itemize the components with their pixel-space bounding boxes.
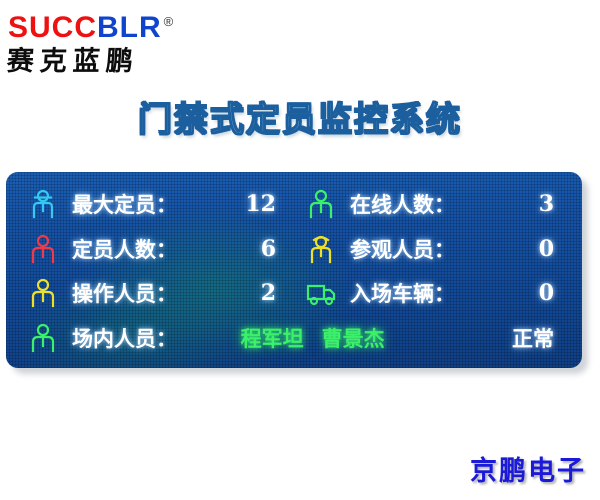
occupant-name-list: 程军坦 曹景杰 (241, 323, 385, 353)
led-cell-max-capacity: 最大定员： 12 (28, 188, 290, 220)
person-visitor-icon (306, 233, 336, 265)
person-online-icon (306, 188, 336, 220)
brand-wordmark: SUCCBLR® (8, 6, 238, 44)
led-label: 场内人员： (72, 323, 177, 353)
led-row: 定员人数： 6 参观人员： 0 (28, 229, 568, 269)
led-cell-occupants-label: 场内人员： (28, 322, 177, 354)
led-cell-online-count: 在线人数： 3 (290, 188, 568, 220)
led-cell-visitor-count: 参观人员： 0 (290, 233, 568, 265)
led-cell-operator-count: 操作人员： 2 (28, 277, 290, 309)
led-label: 操作人员： (72, 278, 177, 308)
led-label: 最大定员： (72, 189, 177, 219)
brand-logo: SUCCBLR® 赛克蓝鹏 (8, 6, 238, 78)
led-cell-vehicle-count: 入场车辆： 0 (290, 277, 568, 309)
led-value: 6 (261, 236, 290, 262)
footer-brand: 京鹏电子 (470, 449, 586, 488)
led-value: 12 (245, 191, 290, 217)
registered-trademark-icon: ® (164, 14, 175, 29)
led-cell-occupant-names: 程军坦 曹景杰 正常 (177, 323, 568, 353)
person-green-icon (28, 322, 58, 354)
wordmark-blr: BLR (97, 11, 162, 44)
led-row: 操作人员： 2 入场车辆： 0 (28, 273, 568, 313)
led-label: 参观人员： (350, 234, 455, 264)
led-value: 0 (539, 280, 568, 306)
led-cell-rated-headcount: 定员人数： 6 (28, 233, 290, 265)
led-value: 2 (261, 280, 290, 306)
led-row-occupants: 场内人员： 程军坦 曹景杰 正常 (28, 318, 568, 358)
led-label: 入场车辆： (350, 278, 455, 308)
led-row: 最大定员： 12 在线人数： 3 (28, 184, 568, 224)
truck-icon (306, 277, 336, 309)
page-title: 门禁式定员监控系统 (0, 92, 600, 141)
wordmark-succ: SUCC (8, 11, 97, 44)
led-rows-container: 最大定员： 12 在线人数： 3 (6, 172, 582, 368)
led-value: 3 (539, 191, 568, 217)
person-yellow-icon (28, 277, 58, 309)
occupant-name: 程军坦 (241, 323, 304, 353)
led-display-panel: 最大定员： 12 在线人数： 3 (6, 172, 582, 368)
brand-chinese-name: 赛克蓝鹏 (6, 45, 238, 79)
led-value: 0 (539, 236, 568, 262)
led-label: 在线人数： (350, 189, 455, 219)
occupant-name: 曹景杰 (322, 323, 385, 353)
person-with-cap-icon (28, 188, 58, 220)
person-red-icon (28, 233, 58, 265)
status-badge: 正常 (512, 323, 568, 353)
led-label: 定员人数： (72, 234, 177, 264)
